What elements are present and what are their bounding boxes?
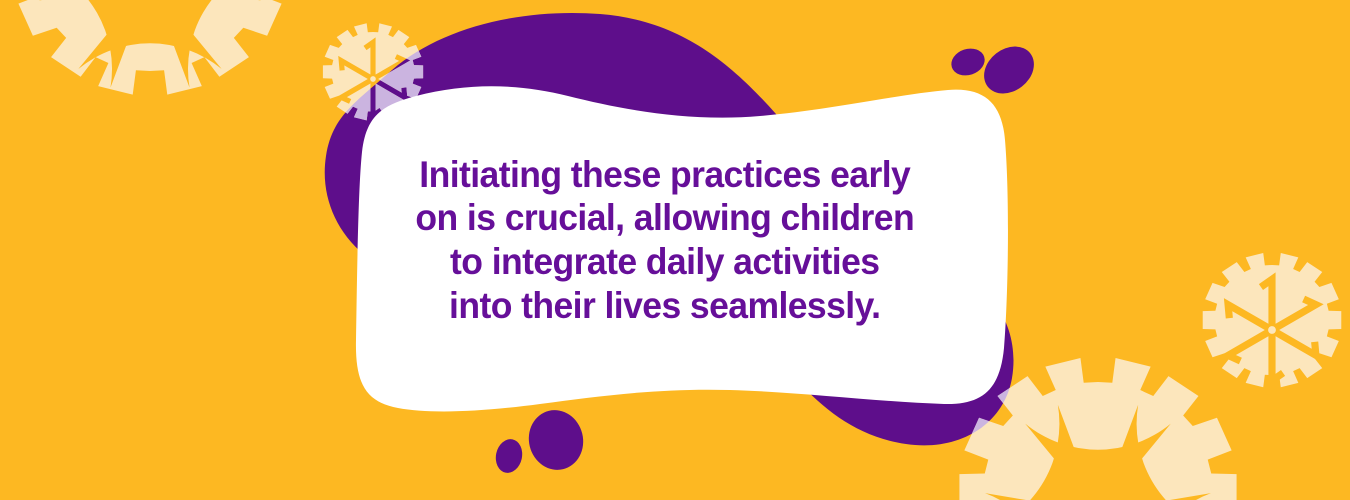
background-artwork <box>0 0 1350 500</box>
quote-graphic: Initiating these practices early on is c… <box>0 0 1350 500</box>
gear-bottom-right-icon <box>1203 253 1342 387</box>
quote-card <box>356 86 1008 411</box>
